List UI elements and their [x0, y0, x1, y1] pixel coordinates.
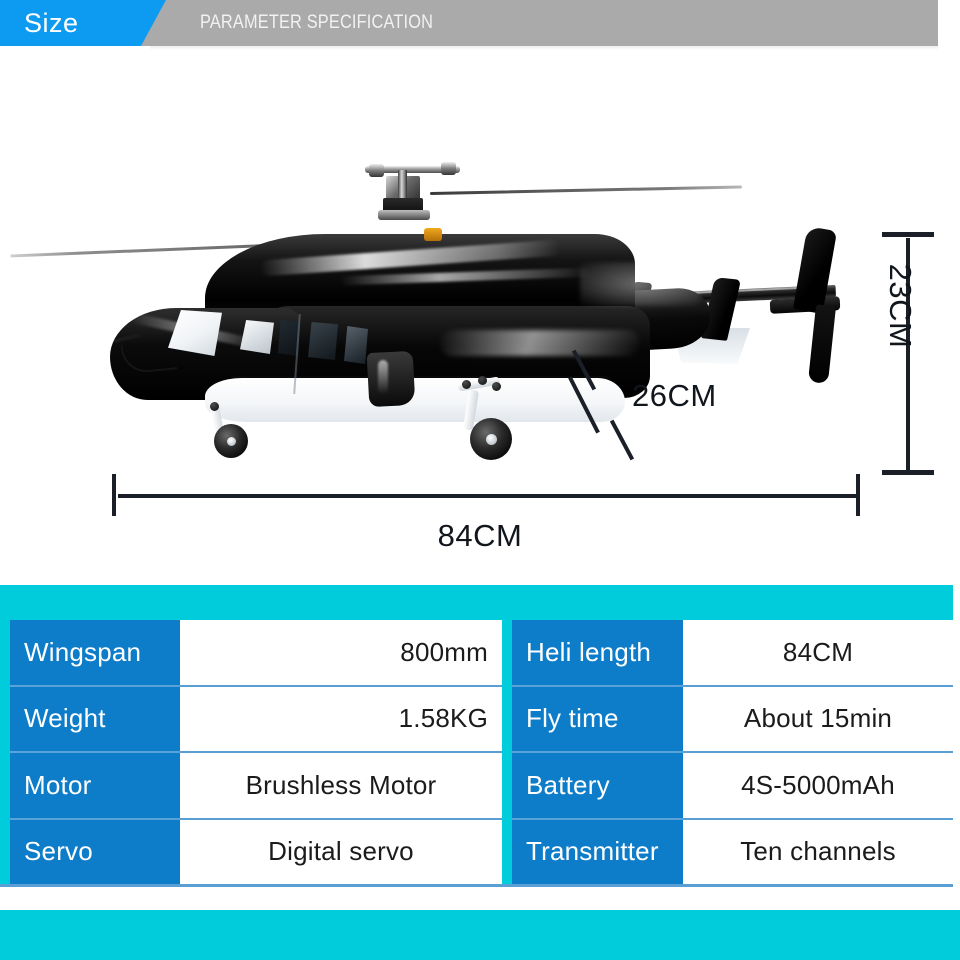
- gear-bolt: [478, 376, 487, 385]
- length-dimension-cap-right: [856, 474, 860, 516]
- spec-label-wingspan: Wingspan: [10, 620, 180, 687]
- spec-value-weight: 1.58KG: [180, 687, 502, 754]
- table-mid-rail: [502, 620, 512, 687]
- length-dimension-cap-left: [112, 474, 116, 516]
- spec-label-heli-length: Heli length: [512, 620, 683, 687]
- gear-bolt: [462, 380, 471, 389]
- length-dimension-label: 84CM: [0, 518, 960, 554]
- width-dimension-cap-bottom: [610, 420, 634, 461]
- amber-nav-light: [424, 228, 442, 241]
- main-rotor-blade-right: [430, 185, 742, 195]
- gloss-highlight-side: [440, 330, 640, 356]
- product-photo: 84CM 23CM 26CM: [0, 50, 960, 585]
- spec-label-transmitter: Transmitter: [512, 820, 683, 887]
- gear-bolt: [492, 382, 501, 391]
- spec-value-battery: 4S-5000mAh: [683, 753, 953, 820]
- spec-value-fly-time: About 15min: [683, 687, 953, 754]
- lower-tail-fin: [808, 304, 836, 384]
- table-mid-rail: [502, 753, 512, 820]
- table-left-rail: [0, 753, 10, 820]
- spec-value-motor: Brushless Motor: [180, 753, 502, 820]
- page-header: Size PARAMETER SPECIFICATION: [0, 0, 960, 46]
- table-mid-rail: [502, 687, 512, 754]
- header-spec-title: PARAMETER SPECIFICATION: [200, 11, 433, 35]
- sponson-highlight: [378, 360, 388, 394]
- front-wheel-hub: [486, 434, 497, 445]
- height-dimension-label: 23CM: [882, 236, 918, 376]
- fuselage: [110, 210, 640, 410]
- rear-wheel-hub: [227, 437, 236, 446]
- spec-value-heli-length: 84CM: [683, 620, 953, 687]
- specification-table: Wingspan 800mm Heli length 84CM Weight 1…: [0, 620, 953, 886]
- spec-label-weight: Weight: [10, 687, 180, 754]
- spec-label-battery: Battery: [512, 753, 683, 820]
- spec-label-servo: Servo: [10, 820, 180, 887]
- table-mid-rail: [502, 820, 512, 887]
- footer-accent-band: [0, 910, 960, 960]
- spec-value-wingspan: 800mm: [180, 620, 502, 687]
- cabin-window-2: [308, 322, 338, 360]
- gear-bolt: [210, 402, 219, 411]
- height-dimension-cap-bottom: [882, 470, 934, 475]
- gloss-highlight-rear: [580, 262, 700, 306]
- spec-label-motor: Motor: [10, 753, 180, 820]
- table-left-rail: [0, 820, 10, 887]
- fuselage-belly: [205, 378, 625, 422]
- length-dimension-line: [118, 494, 858, 498]
- cockpit-window: [240, 320, 274, 354]
- spec-value-transmitter: Ten channels: [683, 820, 953, 887]
- table-left-rail: [0, 687, 10, 754]
- fuselage-sponson: [367, 351, 416, 407]
- cabin-window-3: [344, 326, 368, 364]
- spec-label-fly-time: Fly time: [512, 687, 683, 754]
- width-dimension-label: 26CM: [632, 378, 717, 414]
- rotor-blade-grip-left: [369, 164, 384, 177]
- spec-value-servo: Digital servo: [180, 820, 502, 887]
- table-left-rail: [0, 620, 10, 687]
- rotor-blade-grip-right: [441, 162, 456, 175]
- table-bottom-border: [0, 884, 953, 887]
- table-top-accent-band: [0, 585, 953, 620]
- header-size-label: Size: [24, 6, 79, 40]
